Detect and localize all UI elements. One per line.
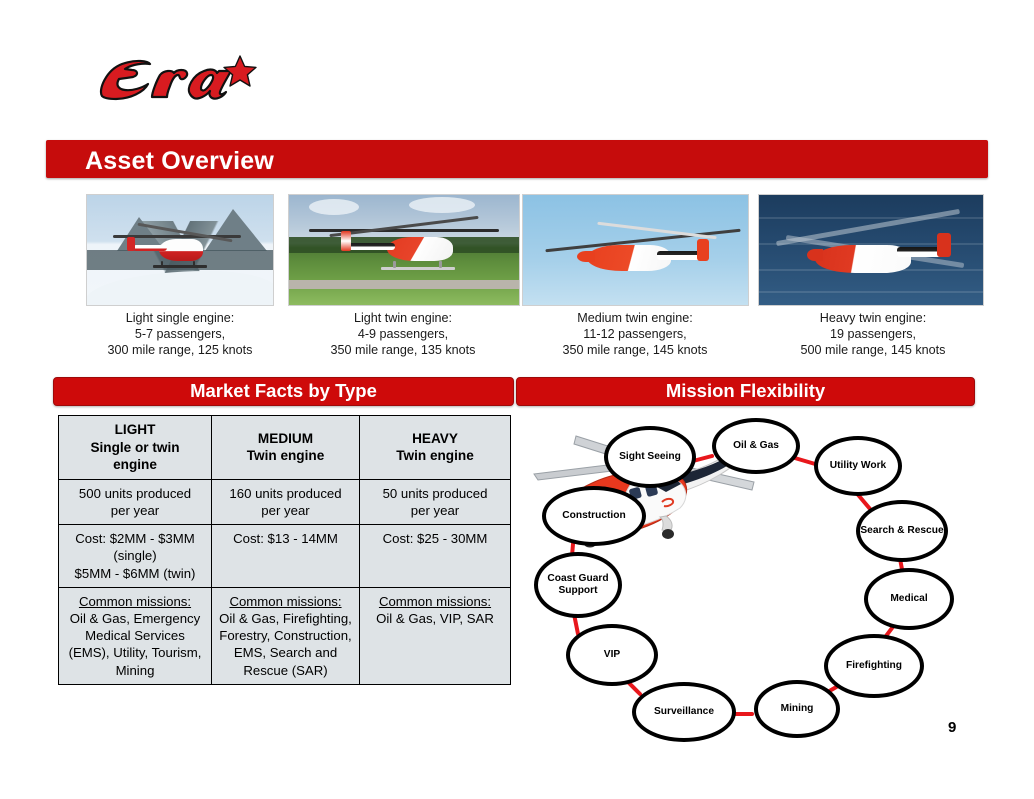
photo-light-single-engine bbox=[86, 194, 274, 306]
mission-flexibility-title: Mission Flexibility bbox=[517, 378, 974, 404]
mission-node-oil-gas[interactable]: Oil & Gas bbox=[712, 418, 800, 474]
table-row-header: LIGHT Single or twin engine MEDIUM Twin … bbox=[59, 416, 511, 480]
table-cell-cost-light: Cost: $2MM - $3MM (single) $5MM - $6MM (… bbox=[59, 525, 212, 588]
missions-label: Common missions: bbox=[364, 593, 506, 610]
helicopter-photo-row bbox=[0, 194, 1034, 306]
table-cell-missions-medium: Common missions: Oil & Gas, Firefighting… bbox=[212, 587, 360, 684]
table-cell-production-medium: 160 units produced per year bbox=[212, 479, 360, 524]
mission-node-construction[interactable]: Construction bbox=[542, 486, 646, 546]
table-cell-type-heavy: HEAVY Twin engine bbox=[360, 416, 511, 480]
table-cell-missions-light: Common missions: Oil & Gas, Emergency Me… bbox=[59, 587, 212, 684]
missions-label: Common missions: bbox=[216, 593, 355, 610]
caption-medium-twin: Medium twin engine: 11-12 passengers, 35… bbox=[510, 310, 760, 359]
mission-node-firefighting[interactable]: Firefighting bbox=[824, 634, 924, 698]
caption-light-twin: Light twin engine: 4-9 passengers, 350 m… bbox=[278, 310, 528, 359]
market-facts-table-wrap: LIGHT Single or twin engine MEDIUM Twin … bbox=[58, 415, 510, 685]
mission-node-medical[interactable]: Medical bbox=[864, 568, 954, 630]
page-number: 9 bbox=[948, 719, 956, 736]
caption-heavy-twin: Heavy twin engine: 19 passengers, 500 mi… bbox=[748, 310, 998, 359]
table-row-production: 500 units produced per year 160 units pr… bbox=[59, 479, 511, 524]
mission-node-mining[interactable]: Mining bbox=[754, 680, 840, 738]
mission-node-search-rescue[interactable]: Search & Rescue bbox=[856, 500, 948, 562]
photo-medium-twin-engine bbox=[522, 194, 749, 306]
table-cell-type-medium: MEDIUM Twin engine bbox=[212, 416, 360, 480]
photo-light-twin-engine bbox=[288, 194, 520, 306]
mission-flexibility-header: Mission Flexibility bbox=[516, 377, 975, 406]
table-cell-cost-heavy: Cost: $25 - 30MM bbox=[360, 525, 511, 588]
era-group-logo: GROUP INC. bbox=[92, 50, 257, 135]
table-cell-production-heavy: 50 units produced per year bbox=[360, 479, 511, 524]
photo-captions: Light single engine: 5-7 passengers, 300… bbox=[0, 310, 1034, 358]
table-cell-missions-heavy: Common missions: Oil & Gas, VIP, SAR bbox=[360, 587, 511, 684]
table-cell-cost-medium: Cost: $13 - 14MM bbox=[212, 525, 360, 588]
table-cell-production-light: 500 units produced per year bbox=[59, 479, 212, 524]
mission-flexibility-diagram: Oil & Gas Utility Work Search & Rescue M… bbox=[516, 408, 986, 738]
mission-node-utility-work[interactable]: Utility Work bbox=[814, 436, 902, 496]
photo-heavy-twin-engine bbox=[758, 194, 984, 306]
table-row-cost: Cost: $2MM - $3MM (single) $5MM - $6MM (… bbox=[59, 525, 511, 588]
mission-node-vip[interactable]: VIP bbox=[566, 624, 658, 686]
mission-node-surveillance[interactable]: Surveillance bbox=[632, 682, 736, 742]
era-wordmark-icon bbox=[92, 50, 257, 108]
market-facts-table: LIGHT Single or twin engine MEDIUM Twin … bbox=[58, 415, 511, 685]
table-cell-type-light: LIGHT Single or twin engine bbox=[59, 416, 212, 480]
table-row-missions: Common missions: Oil & Gas, Emergency Me… bbox=[59, 587, 511, 684]
slide-page: GROUP INC. Asset Overview bbox=[0, 0, 1034, 799]
page-title: Asset Overview bbox=[85, 147, 274, 176]
market-facts-header: Market Facts by Type bbox=[53, 377, 514, 406]
mission-node-sight-seeing[interactable]: Sight Seeing bbox=[604, 426, 696, 488]
slide-title-bar: Asset Overview bbox=[46, 140, 988, 178]
missions-label: Common missions: bbox=[63, 593, 207, 610]
market-facts-title: Market Facts by Type bbox=[54, 378, 513, 404]
caption-light-single: Light single engine: 5-7 passengers, 300… bbox=[55, 310, 305, 359]
mission-node-coast-guard-support[interactable]: Coast Guard Support bbox=[534, 552, 622, 618]
